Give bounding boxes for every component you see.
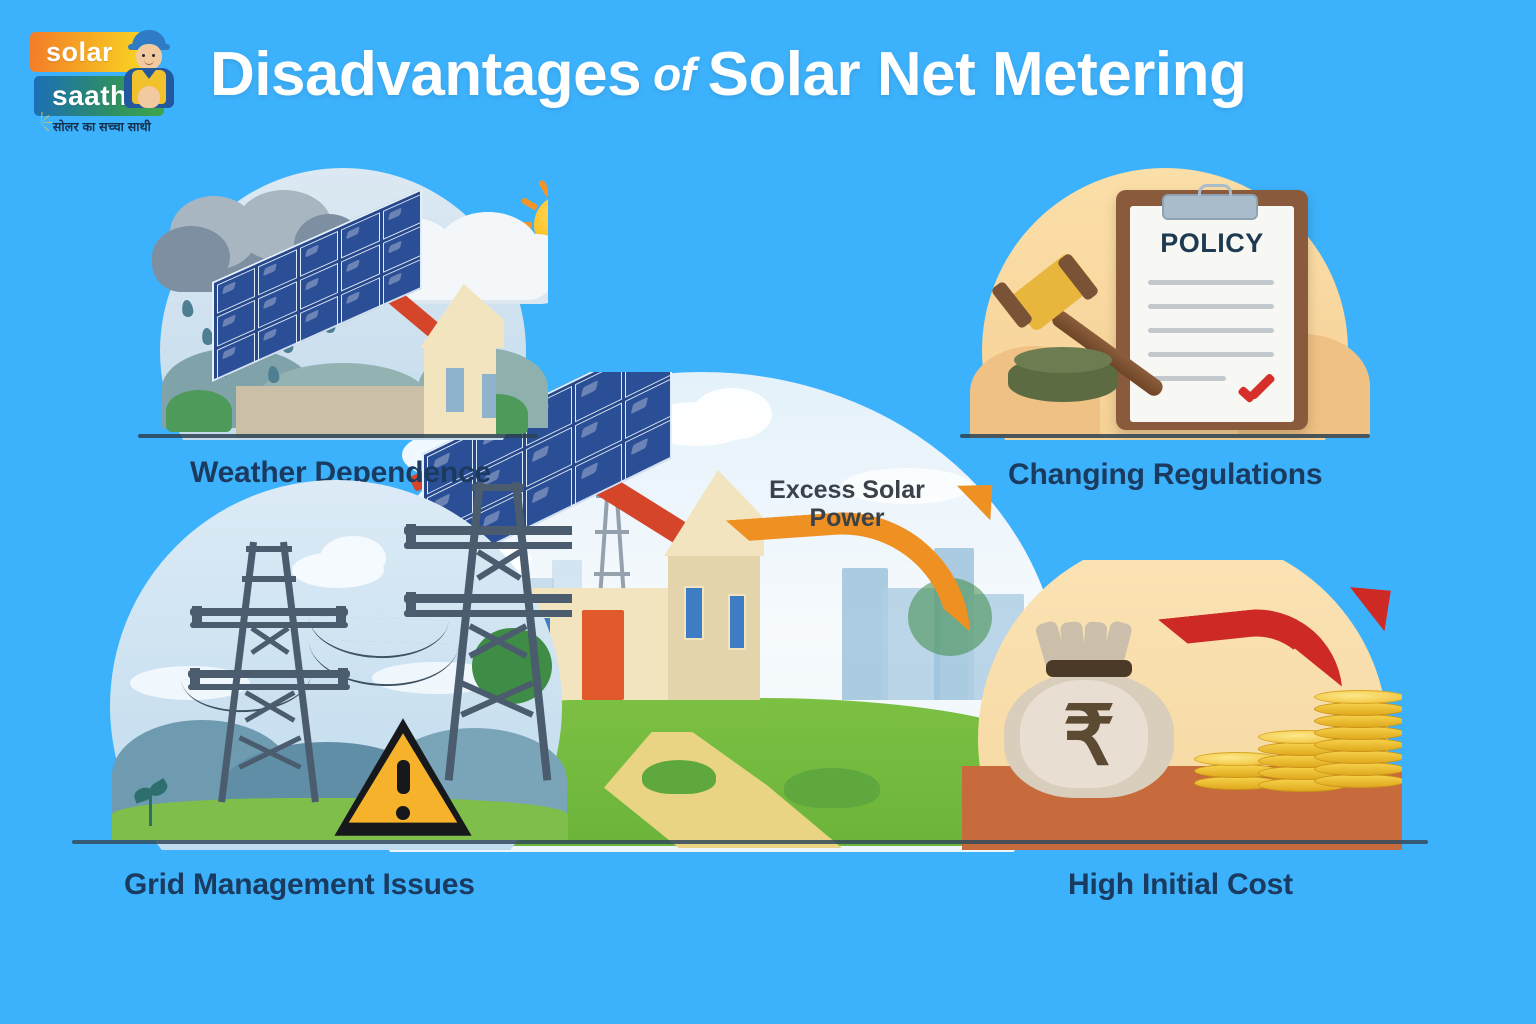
policy-heading: POLICY — [1130, 228, 1294, 259]
worker-mascot-icon — [118, 28, 180, 120]
ground-line — [138, 434, 538, 438]
title-part-2: Solar Net Metering — [708, 39, 1247, 110]
ground-line — [960, 434, 1370, 438]
logo-tagline: सोलर का सच्चा साथी — [22, 118, 182, 135]
checkmark-icon — [1236, 380, 1276, 402]
brand-logo[interactable]: solar saathi सोलर का सच्चा साथी — [22, 26, 182, 138]
label-high-initial-cost: High Initial Cost — [1068, 868, 1293, 902]
label-changing-regulations: Changing Regulations — [1008, 458, 1322, 492]
door-icon — [582, 610, 624, 700]
window-icon — [684, 586, 704, 640]
rupee-symbol-icon: ₹ — [1000, 696, 1178, 778]
clipboard-clip — [1162, 194, 1258, 220]
solar-house-icon — [196, 276, 516, 436]
window-icon — [446, 368, 464, 412]
money-bag-icon: ₹ — [1000, 620, 1178, 798]
quadrant-high-initial-cost: ₹ — [962, 560, 1402, 850]
callout-line-2: Power — [742, 504, 952, 532]
transmission-tower-icon — [188, 542, 348, 804]
ground-line — [72, 840, 1428, 844]
bush-icon — [784, 768, 880, 808]
quadrant-weather-dependence — [138, 168, 548, 440]
excess-power-label: Excess Solar Power — [742, 476, 952, 532]
sprout-icon — [134, 780, 168, 826]
title-part-1: Disadvantages — [210, 39, 641, 110]
window-icon — [482, 374, 496, 418]
coin-stack-icon — [1314, 650, 1402, 808]
quadrant-changing-regulations: POLICY — [960, 168, 1370, 440]
callout-line-1: Excess Solar — [742, 476, 952, 504]
title-italic-of: of — [653, 47, 695, 101]
quadrant-grid-management — [72, 480, 572, 850]
gavel-icon — [1008, 264, 1198, 414]
label-grid-management: Grid Management Issues — [124, 868, 475, 902]
infographic-canvas: solar saathi सोलर का सच्चा साथी Disadvan… — [0, 0, 1536, 1024]
bush-icon — [642, 760, 716, 794]
logo-solar-text: solar — [30, 37, 113, 68]
warning-triangle-icon — [337, 720, 469, 838]
page-title: Disadvantages of Solar Net Metering — [210, 34, 1510, 114]
